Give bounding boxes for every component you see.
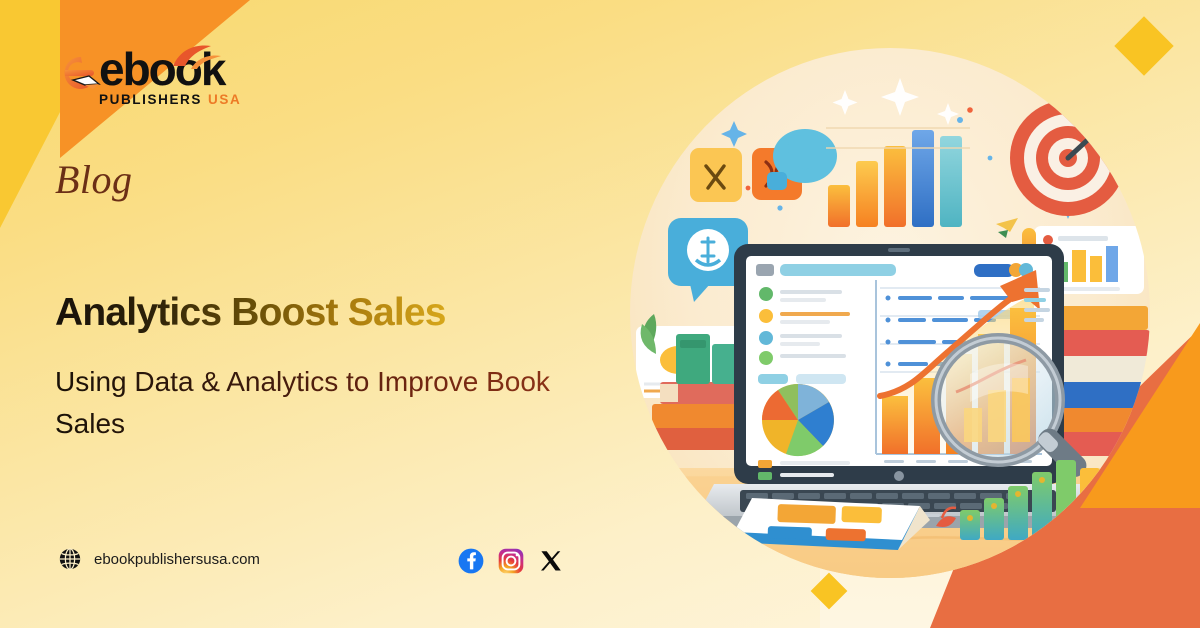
social-links <box>458 548 564 574</box>
website-link[interactable]: ebookpublishersusa.com <box>58 547 260 571</box>
floating-card-yellow <box>690 148 742 202</box>
logo-subtitle-publishers: PUBLISHERS <box>99 92 202 107</box>
logo-subtitle: PUBLISHERS USA <box>99 92 241 107</box>
content-column: ebook PUBLISHERS USA Blog Analytics Boos… <box>55 48 615 445</box>
analytics-illustration-art <box>630 48 1150 578</box>
top-bar-chart <box>828 130 962 227</box>
page-subtitle: Using Data & Analytics to Improve Book S… <box>55 361 560 445</box>
page-title: Analytics Boost Sales <box>55 291 446 335</box>
logo-subtitle-usa: USA <box>208 92 241 107</box>
flame-swoosh-icon <box>171 44 225 70</box>
gold-diamond-icon <box>1114 16 1173 75</box>
globe-icon <box>58 547 82 571</box>
open-book-on-desk <box>728 498 930 550</box>
brand-logo[interactable]: ebook PUBLISHERS USA <box>55 48 235 108</box>
dartboard-target-icon <box>1010 90 1136 216</box>
hero-illustration <box>630 48 1150 578</box>
footer-bar: ebookpublishersusa.com <box>58 547 260 571</box>
website-url-text: ebookpublishersusa.com <box>94 551 260 568</box>
blog-banner: ebook PUBLISHERS USA Blog Analytics Boos… <box>0 0 1200 628</box>
x-twitter-icon[interactable] <box>538 548 564 574</box>
facebook-icon[interactable] <box>458 548 484 574</box>
section-label-blog: Blog <box>55 156 615 203</box>
instagram-icon[interactable] <box>498 548 524 574</box>
pie-chart <box>762 384 834 456</box>
